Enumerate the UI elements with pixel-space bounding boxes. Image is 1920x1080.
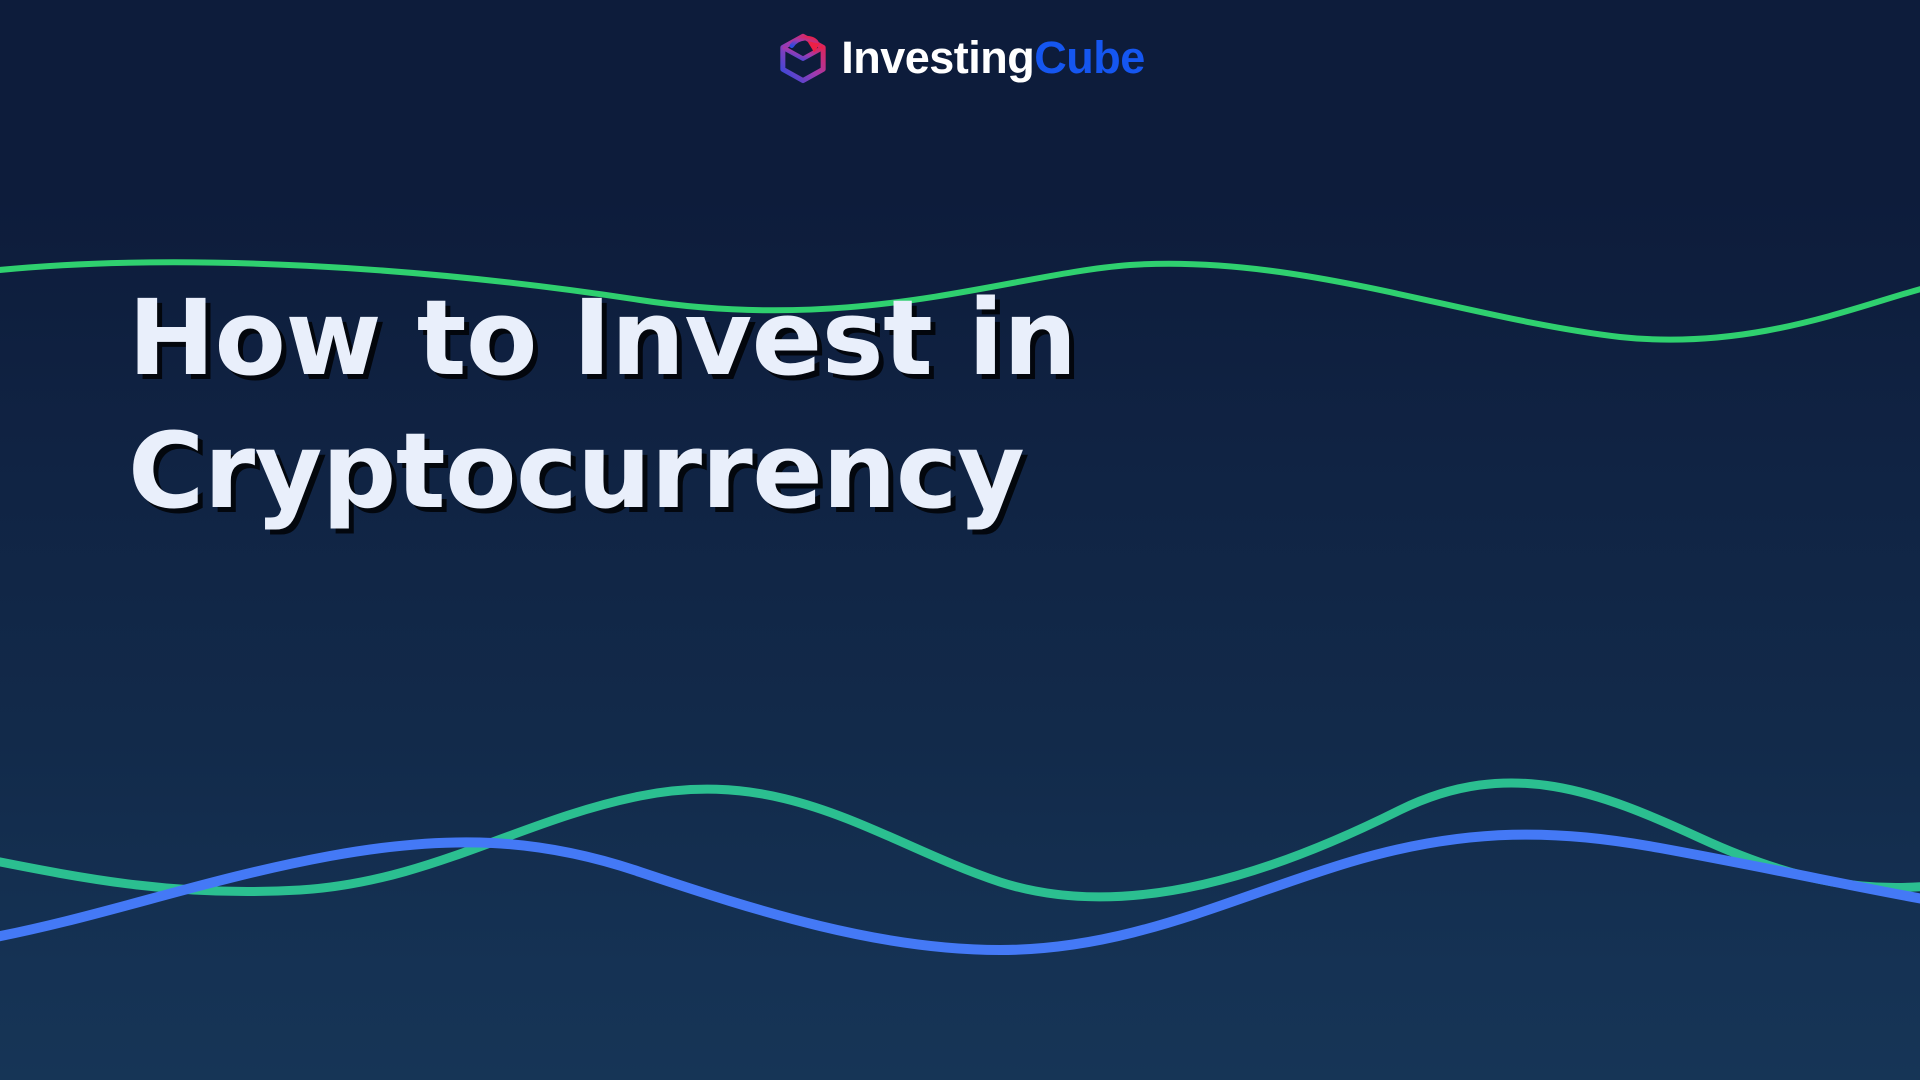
page-title: How to Invest in Cryptocurrency	[128, 272, 1308, 538]
bottom-teal-wave-path	[0, 783, 1920, 897]
bottom-blue-wave-path	[0, 835, 1920, 950]
brand-logo[interactable]: InvestingCube	[0, 26, 1920, 88]
hero-banner: InvestingCube How to Invest in Cryptocur…	[0, 0, 1920, 1080]
wave-decoration	[0, 0, 1920, 1080]
brand-wordmark: InvestingCube	[841, 35, 1145, 80]
investingcube-cube-icon	[775, 29, 831, 85]
brand-word-investing: Investing	[841, 35, 1034, 80]
brand-word-cube: Cube	[1034, 35, 1145, 80]
